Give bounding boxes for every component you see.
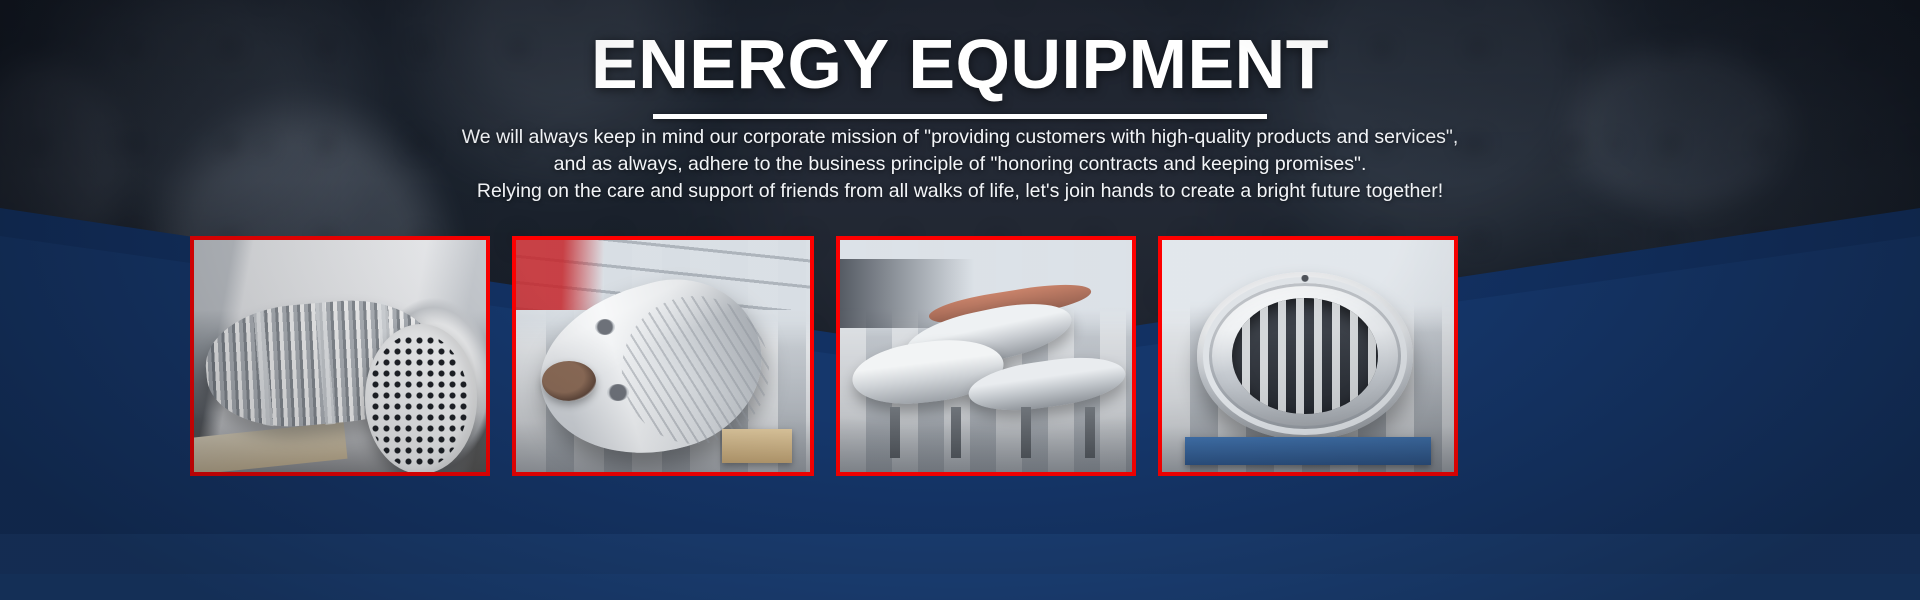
- mission-statement: We will always keep in mind our corporat…: [0, 124, 1920, 205]
- page-title: ENERGY EQUIPMENT: [585, 26, 1335, 102]
- flanged-shell-photo: [1162, 240, 1454, 472]
- photo3-stand-2: [951, 407, 961, 458]
- photo4-support-stand: [1185, 437, 1430, 465]
- vertical-pressure-vessel-photo: [516, 240, 810, 472]
- photo2-main-nozzle: [542, 361, 596, 401]
- photo4-internal-rods: [1232, 298, 1378, 414]
- bottom-band-lighter: [0, 574, 1920, 600]
- photo3-stand-3: [1021, 407, 1031, 458]
- horizontal-vessels-photo: [840, 240, 1132, 472]
- photo1-tubesheet-holes: [368, 333, 468, 469]
- photo3-stand-4: [1085, 407, 1095, 458]
- mission-line-2: and as always, adhere to the business pr…: [0, 151, 1920, 178]
- energy-equipment-banner: ENERGY EQUIPMENT We will always keep in …: [0, 0, 1920, 600]
- heat-exchanger-tube-bundle-photo: [194, 240, 486, 472]
- gallery-card-3[interactable]: [836, 236, 1136, 476]
- headline-wrapper: ENERGY EQUIPMENT: [0, 26, 1920, 119]
- title-underline: [653, 114, 1267, 119]
- photo2-nozzle-small-lower: [607, 384, 629, 401]
- gallery-card-4[interactable]: [1158, 236, 1458, 476]
- gallery-card-1[interactable]: [190, 236, 490, 476]
- photo2-timber-crate: [722, 429, 792, 463]
- photo3-stand-1: [890, 407, 900, 458]
- gallery-card-2[interactable]: [512, 236, 814, 476]
- product-image-gallery: [190, 236, 1730, 476]
- mission-line-1: We will always keep in mind our corporat…: [0, 124, 1920, 151]
- mission-line-3: Relying on the care and support of frien…: [0, 178, 1920, 205]
